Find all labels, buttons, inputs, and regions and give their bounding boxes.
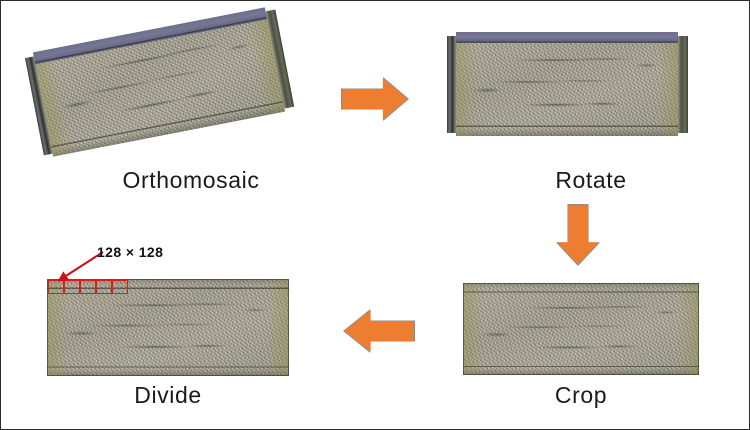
rotate-left-flank xyxy=(447,36,456,133)
crop-surface xyxy=(463,283,699,375)
arrow-ortho-to-rotate xyxy=(341,77,409,121)
arrow-left-icon xyxy=(344,310,414,352)
step-label-orthomosaic: Orthomosaic xyxy=(106,167,276,194)
step-label-divide: Divide xyxy=(83,382,253,409)
orthomosaic-image xyxy=(33,7,285,156)
rotate-surface xyxy=(456,32,678,136)
figure-canvas: Orthomosaic Rotate Crop xyxy=(0,0,750,430)
rotate-top-strip xyxy=(456,32,678,43)
rotate-image xyxy=(456,32,678,136)
step-label-rotate: Rotate xyxy=(506,167,676,194)
orthomosaic-top-strip xyxy=(33,7,267,63)
rotate-right-flank xyxy=(678,36,688,133)
divide-image xyxy=(47,279,289,376)
step-label-crop: Crop xyxy=(496,382,666,409)
tile-size-label: 128 × 128 xyxy=(97,244,163,260)
arrow-crop-to-divide xyxy=(343,309,415,353)
arrow-down-icon xyxy=(557,205,599,265)
arrow-rotate-to-crop xyxy=(556,204,600,266)
arrow-right-icon xyxy=(342,78,408,120)
divide-surface xyxy=(47,279,289,376)
crop-image xyxy=(463,283,699,375)
orthomosaic-surface xyxy=(33,7,285,156)
